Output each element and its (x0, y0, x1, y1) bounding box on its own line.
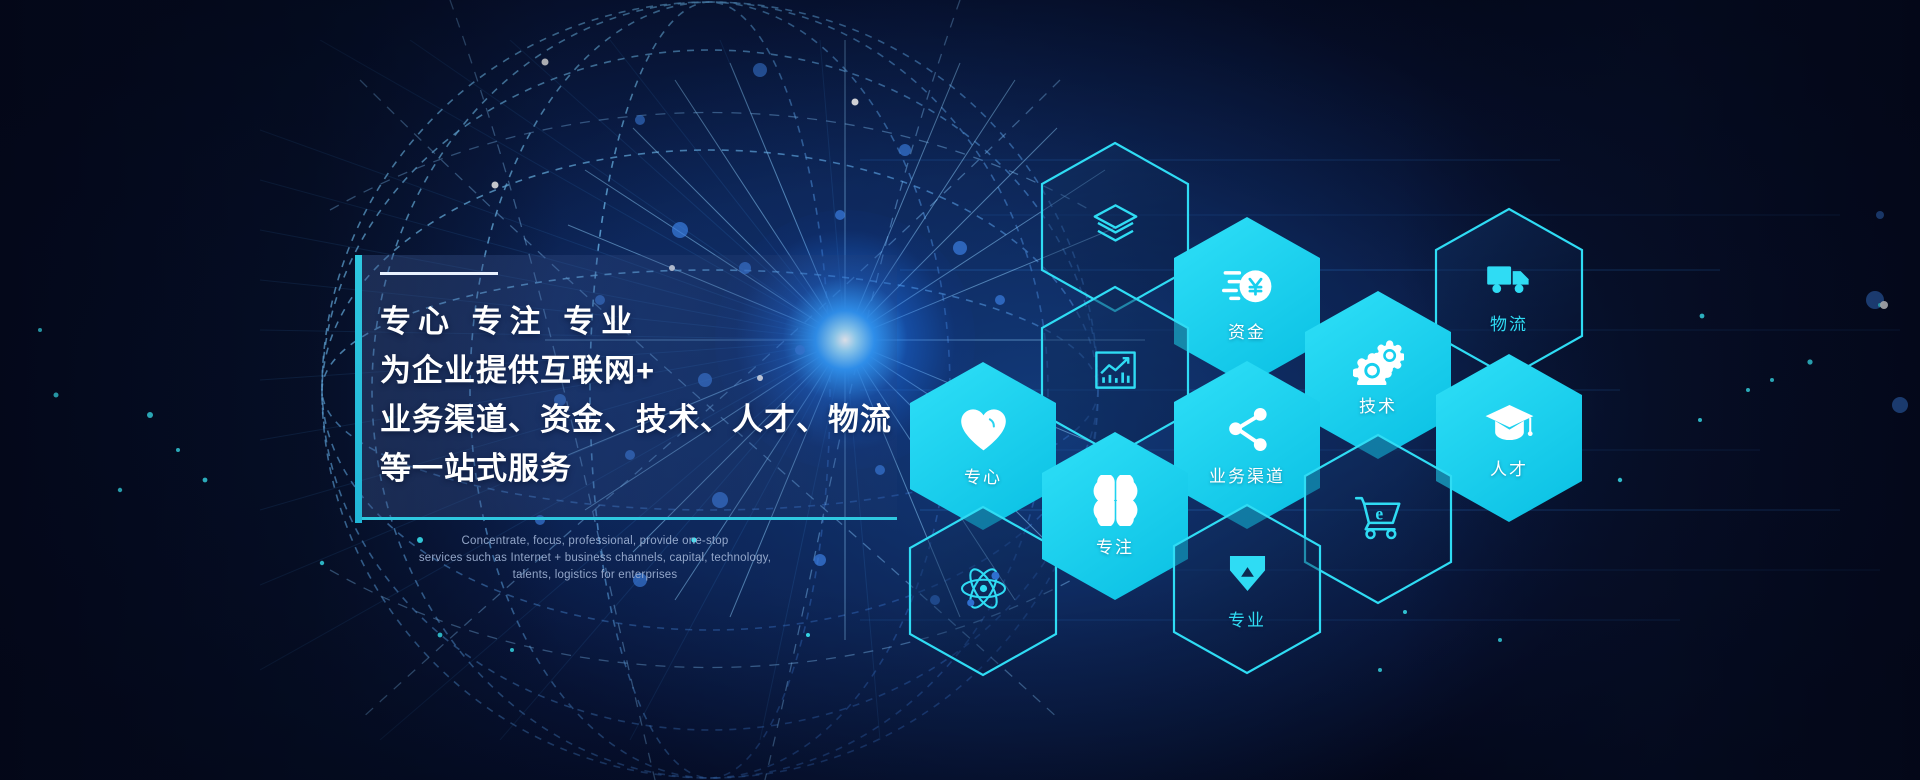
hex-label: 资金 (1172, 318, 1322, 343)
headline-rule (380, 272, 498, 275)
banner-stage: 资金 物流 (0, 0, 1920, 780)
truck-icon (1434, 252, 1584, 303)
hex-label: 业务渠道 (1172, 462, 1322, 487)
diamond-icon (1172, 548, 1322, 599)
hex-zhuanzhu[interactable]: 专注 (1040, 430, 1190, 602)
hex-zhuanye[interactable]: 专业 (1172, 503, 1322, 675)
hex-label: 人才 (1434, 455, 1584, 480)
hex-label: 物流 (1434, 310, 1584, 335)
hex-rencai[interactable]: 人才 (1434, 352, 1584, 524)
hex-ecommerce[interactable]: e (1303, 433, 1453, 605)
share-node-icon (1172, 404, 1322, 455)
gears-icon (1303, 334, 1453, 385)
clover-icon (1040, 475, 1190, 526)
hexagon-cluster: 资金 物流 (0, 0, 1920, 780)
headline-text-block: 专心 专注 专业 为企业提供互联网+ 业务渠道、资金、技术、人才、物流 等一站式… (380, 272, 940, 493)
hex-atom[interactable] (908, 505, 1058, 677)
headline-line-4: 等一站式服务 (380, 444, 940, 493)
layers-icon (1040, 199, 1190, 250)
graduation-cap-icon (1434, 397, 1584, 448)
headline-line-3: 业务渠道、资金、技术、人才、物流 (380, 395, 940, 444)
bar-chart-icon (1040, 343, 1190, 394)
hex-label: 专业 (1172, 606, 1322, 631)
subtitle-line-2: services such as Internet + business cha… (380, 550, 810, 567)
yen-coin-icon (1172, 260, 1322, 311)
headline-line-2: 为企业提供互联网+ (380, 346, 940, 395)
hex-label: 专注 (1040, 533, 1190, 558)
hex-label: 技术 (1303, 392, 1453, 417)
atom-icon (908, 563, 1058, 614)
subtitle-block: Concentrate, focus, professional, provid… (380, 533, 810, 584)
subtitle-line-1: Concentrate, focus, professional, provid… (380, 533, 810, 550)
subtitle-line-3: talents, logistics for enterprises (380, 567, 810, 584)
headline-accent-bar (355, 255, 362, 523)
cart-e-icon: e (1303, 491, 1453, 542)
headline-line-1: 专心 专注 专业 (380, 297, 940, 346)
svg-text:e: e (1375, 504, 1383, 524)
